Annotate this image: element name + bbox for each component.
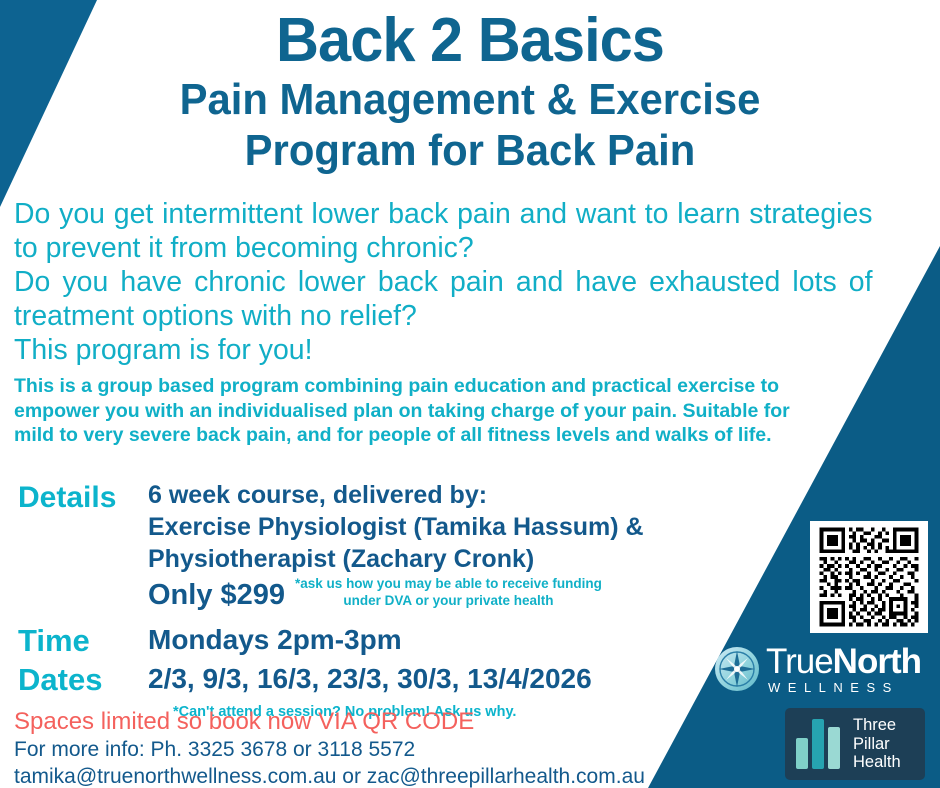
truenorth-name: TrueNorth (766, 644, 921, 679)
threepillar-wordmark: Three Pillar Health (853, 716, 901, 771)
details-line-1: 6 week course, delivered by: (148, 480, 644, 510)
details-line-2: Exercise Physiologist (Tamika Hassum) & (148, 512, 644, 542)
compass-rose-icon (714, 646, 760, 692)
price-row: Only $299 *ask us how you may be able to… (148, 576, 644, 615)
details-label: Details (18, 480, 148, 515)
lead-questions: Do you get intermittent lower back pain … (14, 198, 890, 368)
details-value: 6 week course, delivered by: Exercise Ph… (148, 480, 644, 617)
time-value: Mondays 2pm-3pm (148, 623, 402, 657)
footer-contact: Spaces limited so book now VIA QR CODE F… (14, 708, 645, 788)
qr-code[interactable] (810, 521, 928, 633)
time-row: Time Mondays 2pm-3pm (18, 623, 718, 660)
price-funding-note-line-1: *ask us how you may be able to receive f… (295, 576, 602, 591)
threepillar-line-2: Pillar (853, 735, 901, 753)
time-label: Time (18, 623, 148, 660)
flyer-canvas: Back 2 Basics Pain Management & Exercise… (0, 0, 940, 788)
page-subtitle-line-1: Pain Management & Exercise (24, 77, 917, 124)
lead-callout: This program is for you! (14, 334, 872, 368)
spaces-limited-text: Spaces limited so book now VIA QR CODE (14, 708, 645, 736)
truenorth-tagline: WELLNESS (766, 681, 921, 694)
lead-question-2: Do you have chronic lower back pain and … (14, 266, 872, 334)
dates-label: Dates (18, 662, 148, 699)
lead-question-1: Do you get intermittent lower back pain … (14, 198, 872, 266)
threepillar-line-1: Three (853, 716, 901, 734)
truenorth-name-north: North (833, 642, 921, 681)
price-value: Only $299 (148, 578, 285, 613)
truenorth-wordmark: TrueNorth WELLNESS (766, 644, 921, 694)
program-description: This is a group based program combining … (14, 374, 804, 448)
price-funding-note-line-2: under DVA or your private health (295, 593, 602, 608)
qr-code-icon (813, 524, 925, 630)
page-subtitle-line-2: Program for Back Pain (24, 128, 917, 175)
truenorth-logo: TrueNorth WELLNESS (714, 643, 936, 695)
details-row: Details 6 week course, delivered by: Exe… (18, 480, 718, 617)
threepillar-logo: Three Pillar Health (785, 708, 925, 780)
details-line-3: Physiotherapist (Zachary Cronk) (148, 544, 644, 574)
three-bars-icon (796, 719, 844, 769)
page-title: Back 2 Basics (19, 8, 921, 73)
phone-line: For more info: Ph. 3325 3678 or 3118 557… (14, 737, 645, 763)
price-funding-note: *ask us how you may be able to receive f… (295, 576, 602, 613)
threepillar-line-3: Health (853, 753, 901, 771)
email-line: tamika@truenorthwellness.com.au or zac@t… (14, 764, 645, 788)
header: Back 2 Basics Pain Management & Exercise… (0, 8, 940, 174)
dates-value: 2/3, 9/3, 16/3, 23/3, 30/3, 13/4/2026 (148, 662, 592, 696)
info-block: Details 6 week course, delivered by: Exe… (18, 480, 718, 720)
truenorth-name-true: True (766, 642, 833, 681)
dates-row: Dates 2/3, 9/3, 16/3, 23/3, 30/3, 13/4/2… (18, 662, 718, 699)
